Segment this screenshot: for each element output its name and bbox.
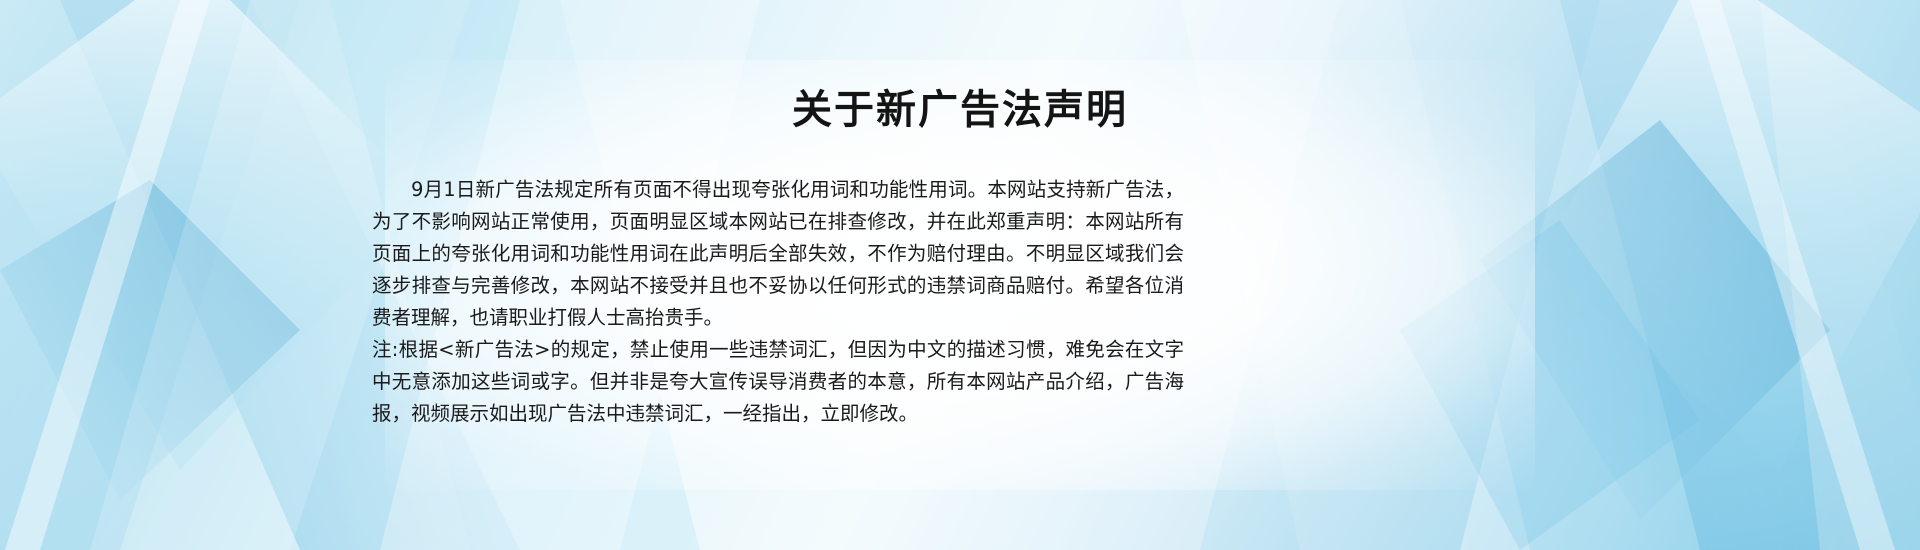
notice-paragraph-2: 注:根据<新广告法>的规定，禁止使用一些违禁词汇，但因为中文的描述习惯，难免会在… <box>372 334 1184 430</box>
notice-paragraph-1: 9月1日新广告法规定所有页面不得出现夸张化用词和功能性用词。本网站支持新广告法，… <box>372 174 1184 334</box>
page-title: 关于新广告法声明 <box>0 88 1920 132</box>
notice-body: 9月1日新广告法规定所有页面不得出现夸张化用词和功能性用词。本网站支持新广告法，… <box>372 174 1184 430</box>
announcement-banner: 关于新广告法声明 9月1日新广告法规定所有页面不得出现夸张化用词和功能性用词。本… <box>0 0 1920 550</box>
notice-content: 关于新广告法声明 9月1日新广告法规定所有页面不得出现夸张化用词和功能性用词。本… <box>0 0 1920 550</box>
